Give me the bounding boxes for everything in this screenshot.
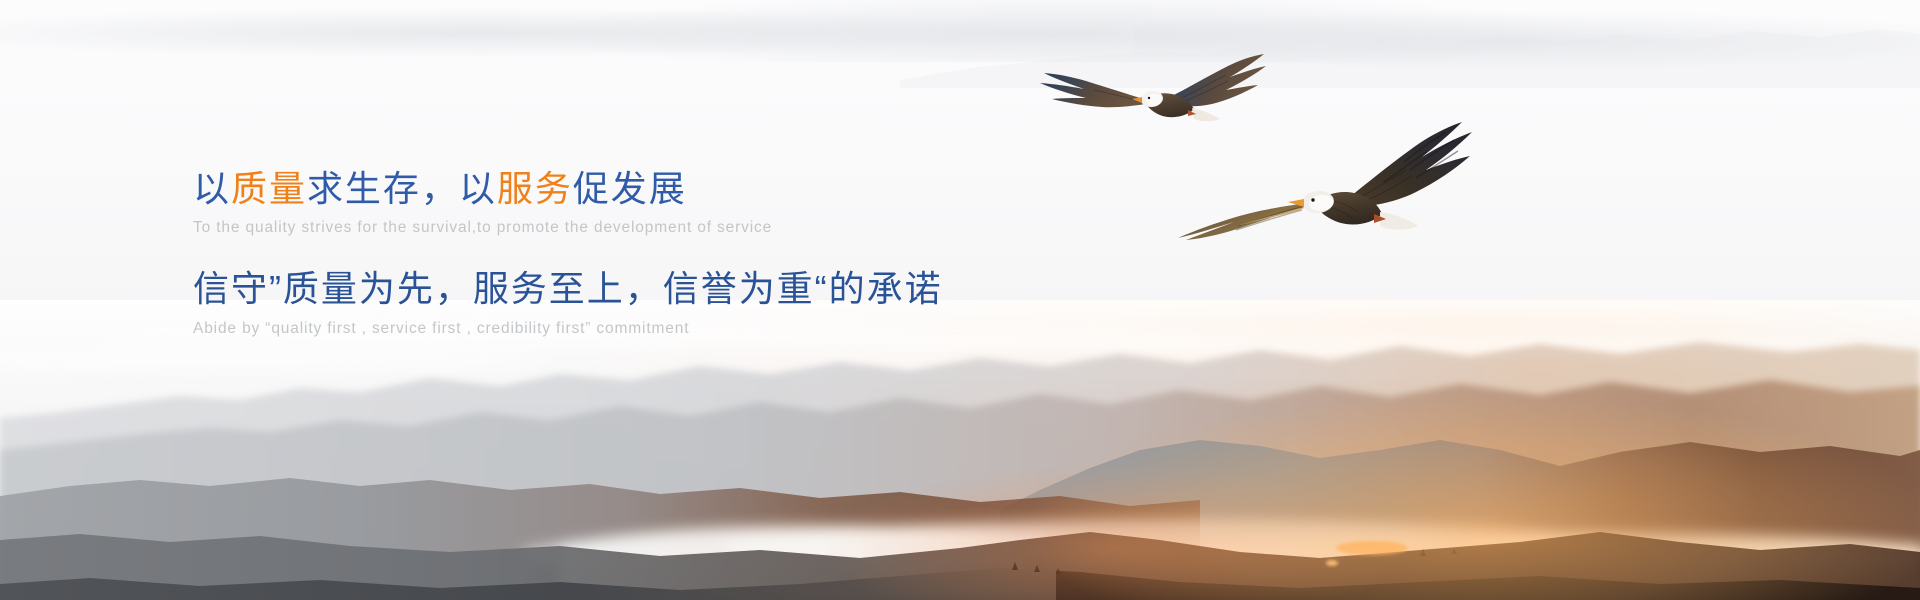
sunset-glow: [770, 340, 1920, 600]
copy-block-secondary: 信守”质量为先，服务至上，信誉为重“的承诺 Abide by “quality …: [193, 268, 1193, 339]
headline-accent-quality: 质量: [231, 168, 307, 209]
headline-part-1: 以: [193, 168, 231, 209]
headline-secondary: 信守”质量为先，服务至上，信誉为重“的承诺: [193, 268, 1193, 310]
mountain-landscape: [0, 300, 1920, 600]
subtitle-primary: To the quality strives for the survival,…: [193, 217, 1193, 239]
headline-part-3: 促发展: [573, 168, 687, 209]
headline-primary: 以质量求生存，以服务促发展: [193, 168, 1193, 210]
subtitle-secondary: Abide by “quality first , service first …: [193, 318, 1193, 340]
headline-part-2: 求生存，以: [307, 168, 497, 209]
hero-banner: 以质量求生存，以服务促发展 To the quality strives for…: [0, 0, 1920, 600]
headline-accent-service: 服务: [497, 168, 573, 209]
eagle-icon: [1158, 118, 1488, 258]
banner-copy: 以质量求生存，以服务促发展 To the quality strives for…: [193, 168, 1193, 339]
